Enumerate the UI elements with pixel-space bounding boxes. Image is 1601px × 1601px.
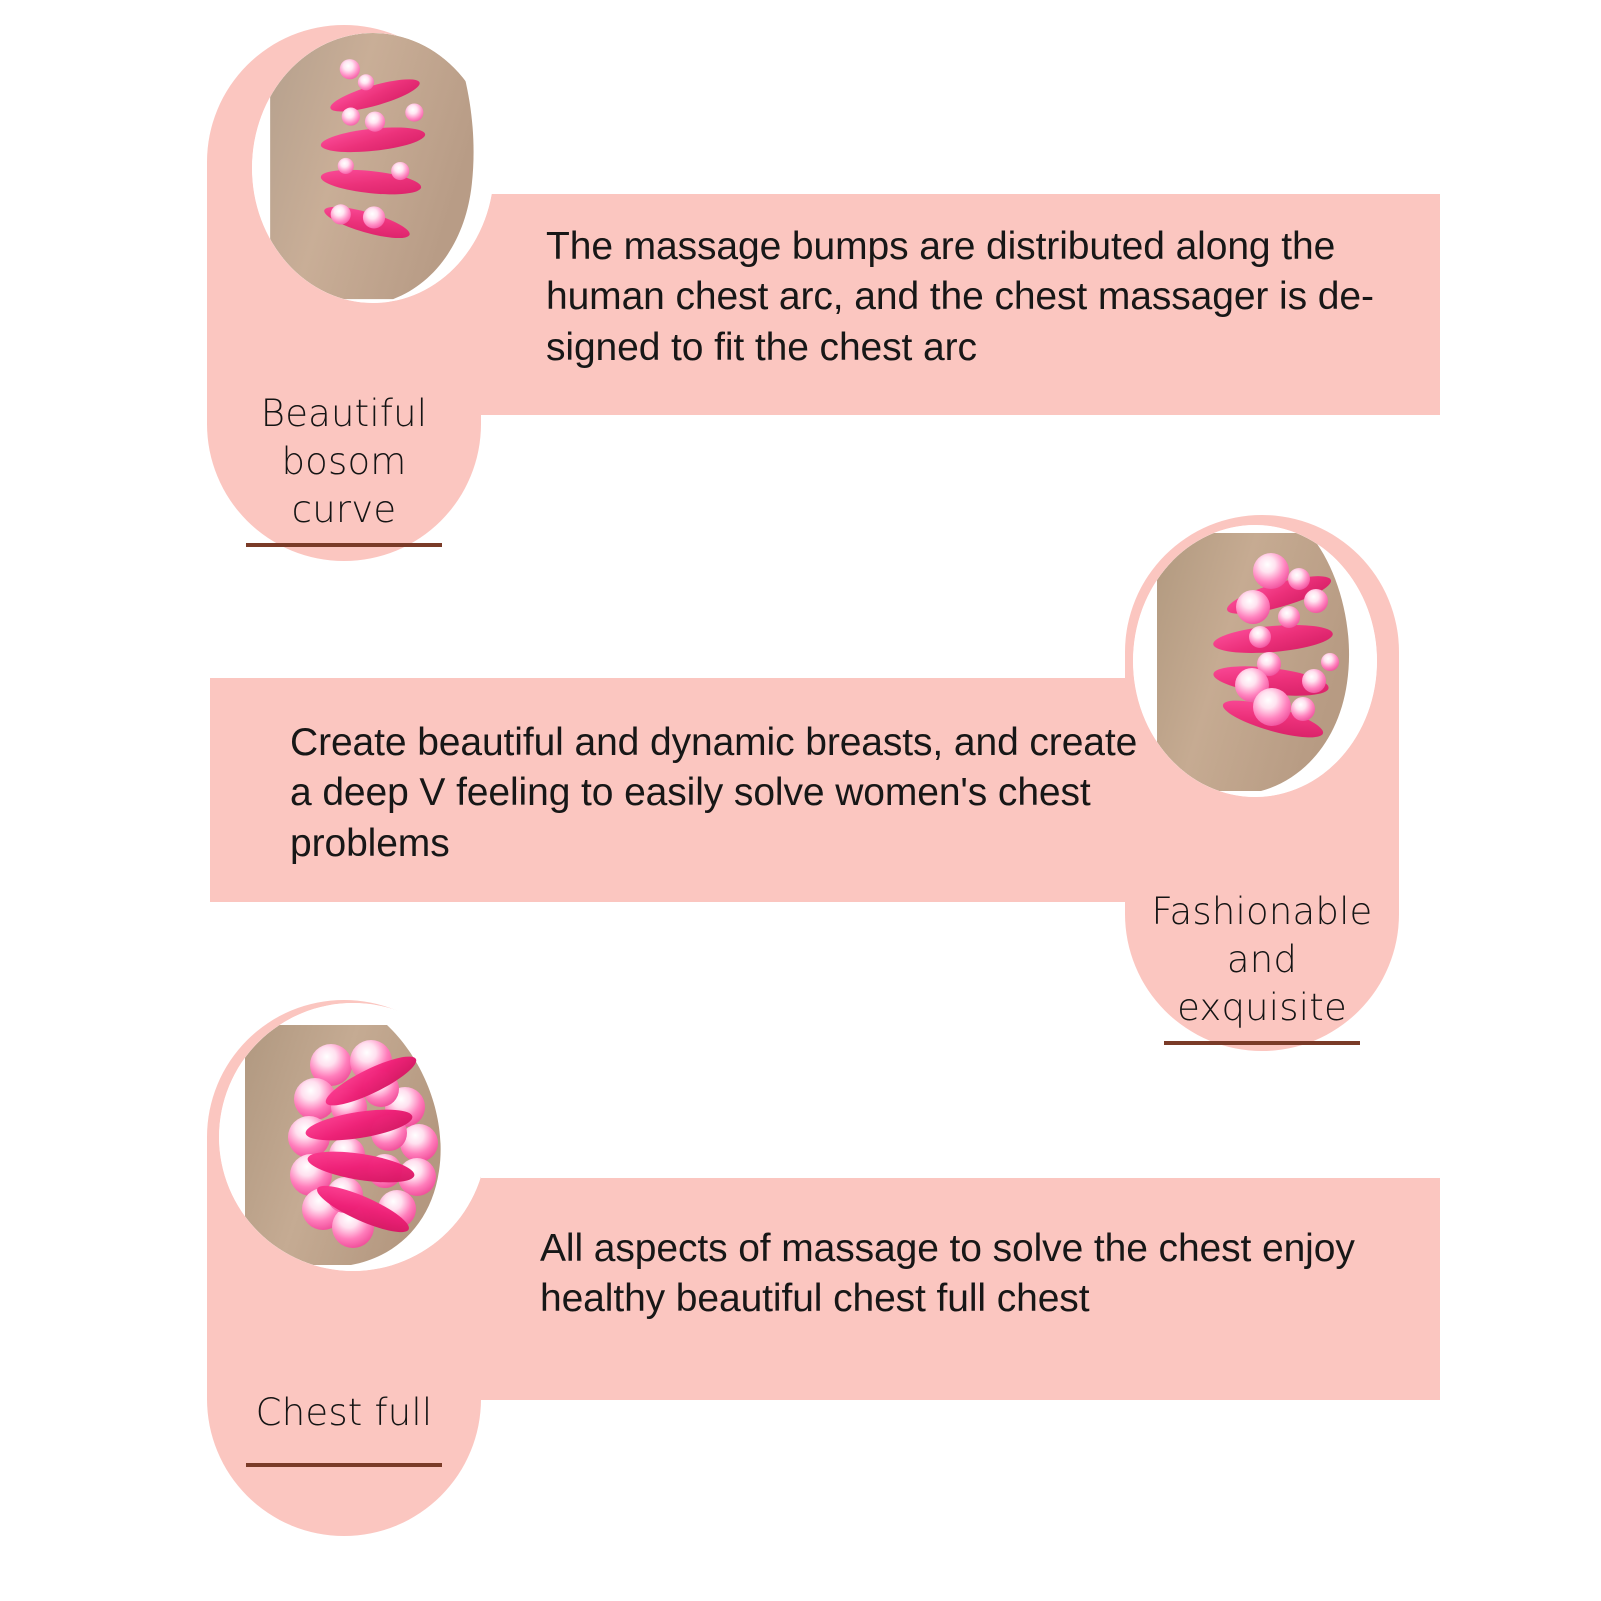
feature-label-1-underline [246,543,442,547]
feature-body-1: The massage bumps are distributed along … [546,222,1426,373]
feature-label-1-line1: Beautiful bosom [261,392,427,483]
feature-label-2: Fashionable and exquisite [1112,888,1412,1045]
feature-label-2-line2: exquisite [1177,986,1347,1029]
product-photo-1 [252,33,494,303]
feature-label-2-underline [1164,1041,1360,1045]
feature-body-3: All aspects of massage to solve the ches… [540,1224,1410,1325]
feature-label-1: Beautiful bosom curve [196,390,492,547]
feature-label-3-underline [246,1463,442,1467]
infographic-stage: Beautiful bosom curve The massage bumps … [0,0,1601,1601]
product-photo-3 [219,1003,487,1271]
feature-body-2: Create beautiful and dynamic breasts, an… [290,718,1150,869]
product-photo-2 [1133,525,1377,797]
feature-label-3-line1: Chest full [256,1391,433,1434]
feature-label-2-line1: Fashionable and [1151,890,1372,981]
feature-label-1-line2: curve [292,488,397,531]
feature-label-3: Chest full [196,1389,492,1467]
